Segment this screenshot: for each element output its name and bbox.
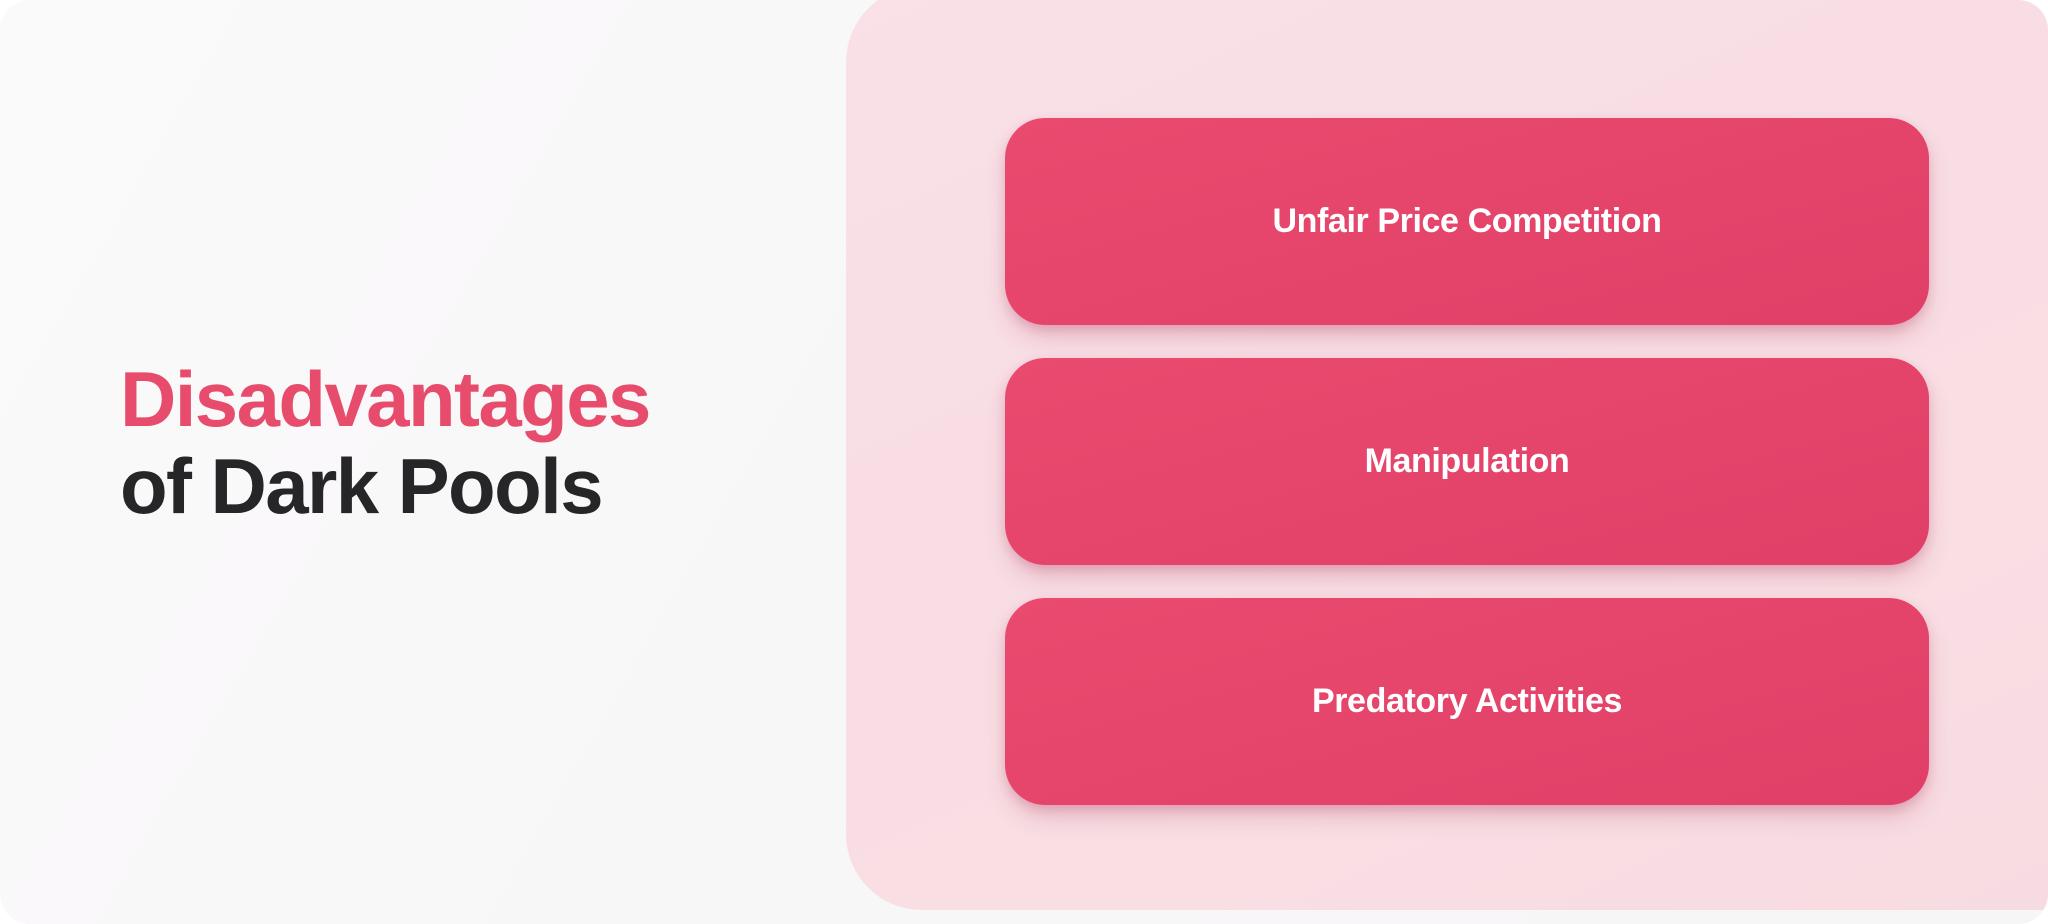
slide-canvas: Disadvantages of Dark Pools Unfair Price… — [0, 0, 2048, 924]
card-label: Manipulation — [1325, 441, 1610, 482]
title-line-accent: Disadvantages — [120, 356, 820, 443]
card-unfair-price-competition[interactable]: Unfair Price Competition — [1005, 118, 1929, 325]
card-label: Predatory Activities — [1272, 681, 1662, 722]
card-predatory-activities[interactable]: Predatory Activities — [1005, 598, 1929, 805]
card-label: Unfair Price Competition — [1232, 201, 1701, 242]
slide-title: Disadvantages of Dark Pools — [120, 356, 820, 529]
card-manipulation[interactable]: Manipulation — [1005, 358, 1929, 565]
disadvantages-card-list: Unfair Price Competition Manipulation Pr… — [1005, 118, 1929, 805]
title-line-subject: of Dark Pools — [120, 443, 820, 530]
